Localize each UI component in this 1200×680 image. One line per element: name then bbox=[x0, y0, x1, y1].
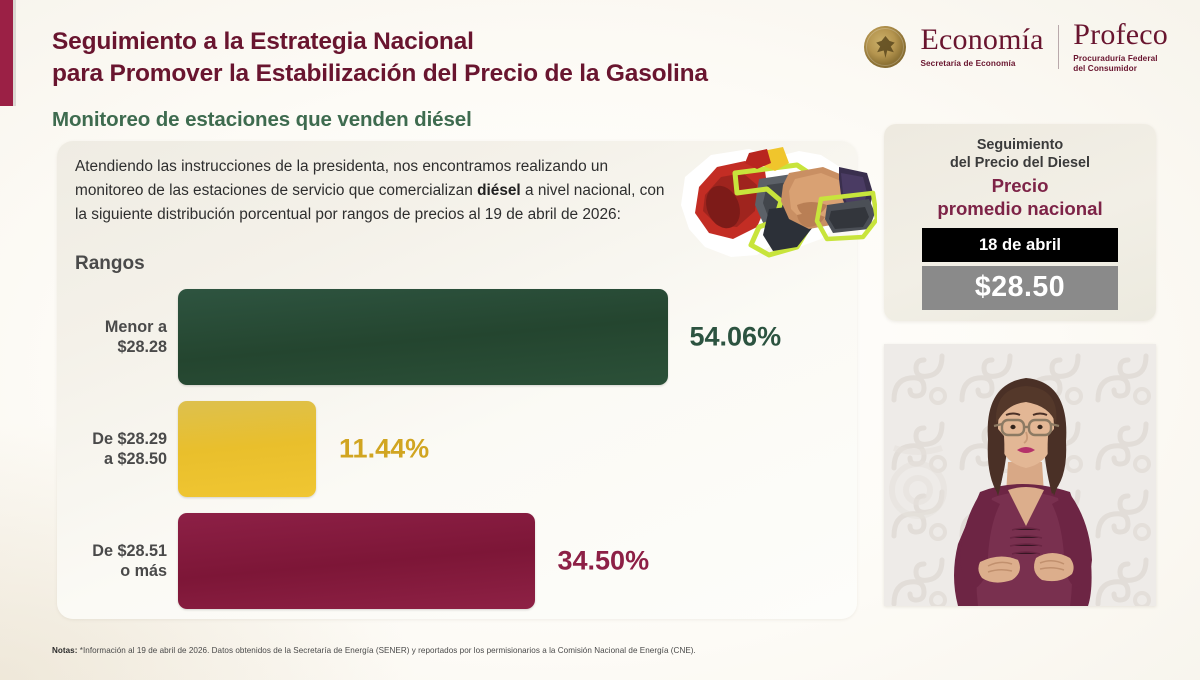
bar-category-label-1-line-2: a $28.50 bbox=[104, 450, 167, 468]
footer-notes-label: Notas: bbox=[52, 646, 77, 655]
fuel-nozzle-icon bbox=[671, 143, 877, 267]
page-title-line-1: Seguimiento a la Estrategia Nacional bbox=[52, 26, 812, 58]
bar-value-label-1: 11.44% bbox=[339, 434, 429, 465]
bar-1 bbox=[178, 401, 316, 497]
bar-category-label-2-line-2: o más bbox=[120, 562, 167, 580]
price-panel-kicker-line-1: Seguimiento bbox=[977, 137, 1063, 153]
bar-0 bbox=[178, 289, 668, 385]
bar-2 bbox=[178, 513, 535, 609]
economia-wordmark: Economía Secretaría de Economía bbox=[920, 25, 1043, 69]
bar-category-label-0-line-2: $28.28 bbox=[117, 338, 167, 356]
page-title: Seguimiento a la Estrategia Nacional par… bbox=[52, 26, 812, 91]
chart-row-0: Menor a $28.28 54.06% bbox=[57, 289, 857, 385]
profeco-name: Profeco bbox=[1073, 20, 1168, 50]
page-title-line-2: para Promover la Estabilización del Prec… bbox=[52, 58, 812, 90]
economia-name: Economía bbox=[920, 25, 1043, 55]
bar-category-label-0: Menor a $28.28 bbox=[17, 317, 167, 358]
bar-track-0: 54.06% bbox=[178, 289, 838, 385]
ranges-bar-chart: Menor a $28.28 54.06% De $28.29 a $28.50… bbox=[57, 289, 857, 609]
main-content-card: Atendiendo las instrucciones de la presi… bbox=[57, 141, 857, 619]
bar-category-label-1: De $28.29 a $28.50 bbox=[17, 429, 167, 470]
bar-value-label-0: 54.06% bbox=[690, 322, 782, 353]
profeco-subtitle-line-2: del Consumidor bbox=[1073, 64, 1137, 73]
sign-language-interpreter-video bbox=[884, 344, 1156, 606]
bar-category-label-1-line-1: De $28.29 bbox=[92, 430, 167, 448]
chart-row-1: De $28.29 a $28.50 11.44% bbox=[57, 401, 857, 497]
price-panel-heading: Precio promedio nacional bbox=[884, 175, 1156, 220]
price-panel-kicker-line-2: del Precio del Diesel bbox=[950, 155, 1090, 171]
left-accent-strip bbox=[0, 0, 13, 106]
price-date-badge: 18 de abril bbox=[922, 228, 1118, 262]
chart-row-2: De $28.51 o más 34.50% bbox=[57, 513, 857, 609]
intro-paragraph: Atendiendo las instrucciones de la presi… bbox=[75, 155, 675, 227]
logo-lockup: Economía Secretaría de Economía Profeco … bbox=[864, 20, 1168, 74]
profeco-wordmark: Profeco Procuraduría Federal del Consumi… bbox=[1073, 20, 1168, 74]
bar-category-label-0-line-1: Menor a bbox=[105, 318, 167, 336]
price-panel-heading-line-2: promedio nacional bbox=[937, 198, 1102, 219]
intro-paragraph-emphasis: diésel bbox=[477, 182, 521, 199]
bar-category-label-2: De $28.51 o más bbox=[17, 541, 167, 582]
logo-divider bbox=[1058, 25, 1060, 69]
footer-notes-text: *Información al 19 de abril de 2026. Dat… bbox=[77, 646, 695, 655]
page-subtitle: Monitoreo de estaciones que venden diése… bbox=[52, 108, 472, 132]
price-panel-kicker: Seguimiento del Precio del Diesel bbox=[884, 136, 1156, 172]
bar-track-2: 34.50% bbox=[178, 513, 838, 609]
bar-category-label-2-line-1: De $28.51 bbox=[92, 542, 167, 560]
national-average-price-panel: Seguimiento del Precio del Diesel Precio… bbox=[884, 124, 1156, 321]
slide-root: Seguimiento a la Estrategia Nacional par… bbox=[0, 0, 1200, 680]
mexican-coat-of-arms-icon bbox=[864, 26, 906, 68]
economia-subtitle: Secretaría de Economía bbox=[920, 59, 1043, 69]
ranges-axis-title: Rangos bbox=[75, 253, 145, 275]
bar-track-1: 11.44% bbox=[178, 401, 838, 497]
bar-value-label-2: 34.50% bbox=[558, 546, 650, 577]
profeco-subtitle: Procuraduría Federal del Consumidor bbox=[1073, 54, 1168, 74]
profeco-subtitle-line-1: Procuraduría Federal bbox=[1073, 54, 1157, 63]
footer-notes: Notas: *Información al 19 de abril de 20… bbox=[52, 646, 696, 655]
price-panel-heading-line-1: Precio bbox=[992, 175, 1049, 196]
price-value-badge: $28.50 bbox=[922, 266, 1118, 310]
